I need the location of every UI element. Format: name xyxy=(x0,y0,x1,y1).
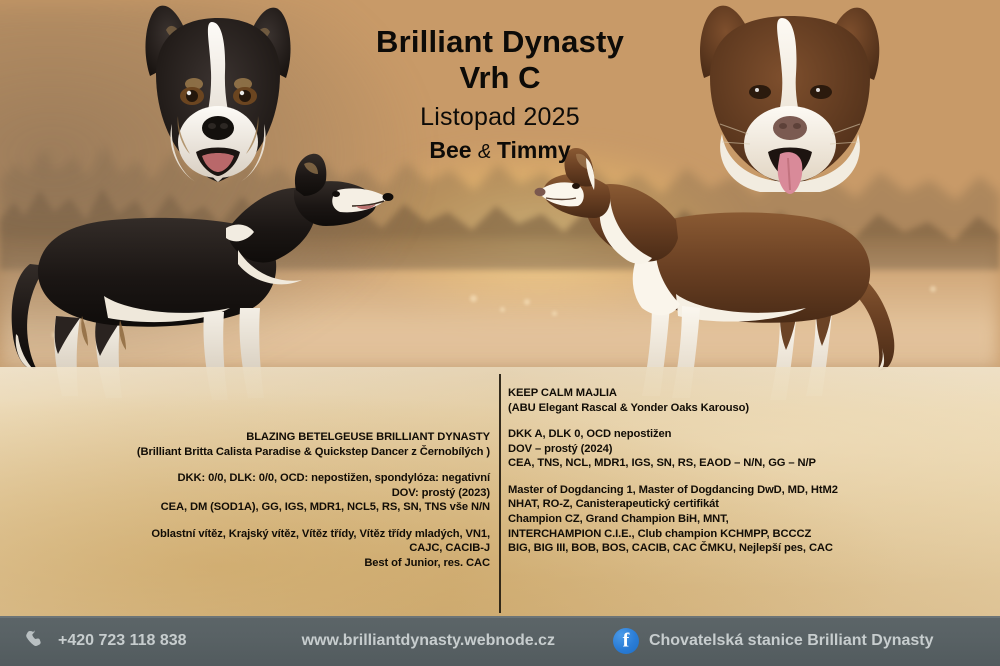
bokeh-speck xyxy=(500,307,505,312)
facebook-icon xyxy=(613,628,639,654)
sire-pedigree: (Brilliant Britta Calista Paradise & Qui… xyxy=(40,445,490,460)
spacer xyxy=(40,515,490,527)
spacer xyxy=(40,459,490,471)
dam-title-line: Champion CZ, Grand Champion BiH, MNT, xyxy=(508,512,978,527)
parent-name-left: Bee xyxy=(429,137,471,163)
column-divider xyxy=(499,374,501,613)
page-title: Brilliant Dynasty xyxy=(0,24,1000,60)
sire-health-line: DKK: 0/0, DLK: 0/0, OCD: nepostižen, spo… xyxy=(40,471,490,486)
spacer xyxy=(508,471,978,483)
poster: Brilliant Dynasty Vrh C Listopad 2025 Be… xyxy=(0,0,1000,666)
spacer xyxy=(508,415,978,427)
sire-health-line: DOV: prostý (2023) xyxy=(40,486,490,501)
parents-title: Bee & Timmy xyxy=(0,137,1000,164)
phone-icon xyxy=(24,629,48,653)
footer-website-text: www.brilliantdynasty.webnode.cz xyxy=(302,632,555,650)
footer-top-highlight xyxy=(0,616,1000,618)
dam-pedigree: (ABU Elegant Rascal & Yonder Oaks Karous… xyxy=(508,401,978,416)
dam-name: KEEP CALM MAJLIA xyxy=(508,386,978,401)
bokeh-speck xyxy=(524,299,530,305)
litter-title: Vrh C xyxy=(0,60,1000,96)
sire-title-line: Oblastní vítěz, Krajský vítěz, Vítěz tří… xyxy=(40,527,490,542)
dam-title-line: Master of Dogdancing 1, Master of Dogdan… xyxy=(508,483,978,498)
dam-title-line: INTERCHAMPION C.I.E., Club champion KCHM… xyxy=(508,527,978,542)
dam-title-line: NHAT, RO-Z, Canisterapeutický certifikát xyxy=(508,497,978,512)
dam-health-line: CEA, TNS, NCL, MDR1, IGS, SN, RS, EAOD –… xyxy=(508,456,978,471)
footer-facebook[interactable]: Chovatelská stanice Brilliant Dynasty xyxy=(613,628,934,654)
sire-name: BLAZING BETELGEUSE BRILLIANT DYNASTY xyxy=(40,430,490,445)
sire-title-line: CAJC, CACIB-J xyxy=(40,541,490,556)
footer-facebook-text: Chovatelská stanice Brilliant Dynasty xyxy=(649,632,934,650)
ampersand: & xyxy=(478,141,497,163)
footer-phone-text: +420 723 118 838 xyxy=(58,632,187,650)
dam-health-line: DOV – prostý (2024) xyxy=(508,442,978,457)
sire-health-line: CEA, DM (SOD1A), GG, IGS, MDR1, NCL5, RS… xyxy=(40,500,490,515)
sire-title-line: Best of Junior, res. CAC xyxy=(40,556,490,571)
dam-info-column: KEEP CALM MAJLIA (ABU Elegant Rascal & Y… xyxy=(508,386,978,556)
bokeh-speck xyxy=(470,295,477,302)
bokeh-speck xyxy=(930,286,936,292)
dam-title-line: BIG, BIG III, BOB, BOS, CACIB, CAC ČMKU,… xyxy=(508,541,978,556)
footer-phone[interactable]: +420 723 118 838 xyxy=(24,629,187,653)
footer-bar: +420 723 118 838 www.brilliantdynasty.we… xyxy=(0,616,1000,666)
dam-health-line: DKK A, DLK 0, OCD nepostižen xyxy=(508,427,978,442)
footer-website[interactable]: www.brilliantdynasty.webnode.cz xyxy=(302,632,555,650)
litter-date: Listopad 2025 xyxy=(0,103,1000,132)
sire-info-column: BLAZING BETELGEUSE BRILLIANT DYNASTY (Br… xyxy=(40,430,490,571)
parent-name-right: Timmy xyxy=(497,137,571,163)
